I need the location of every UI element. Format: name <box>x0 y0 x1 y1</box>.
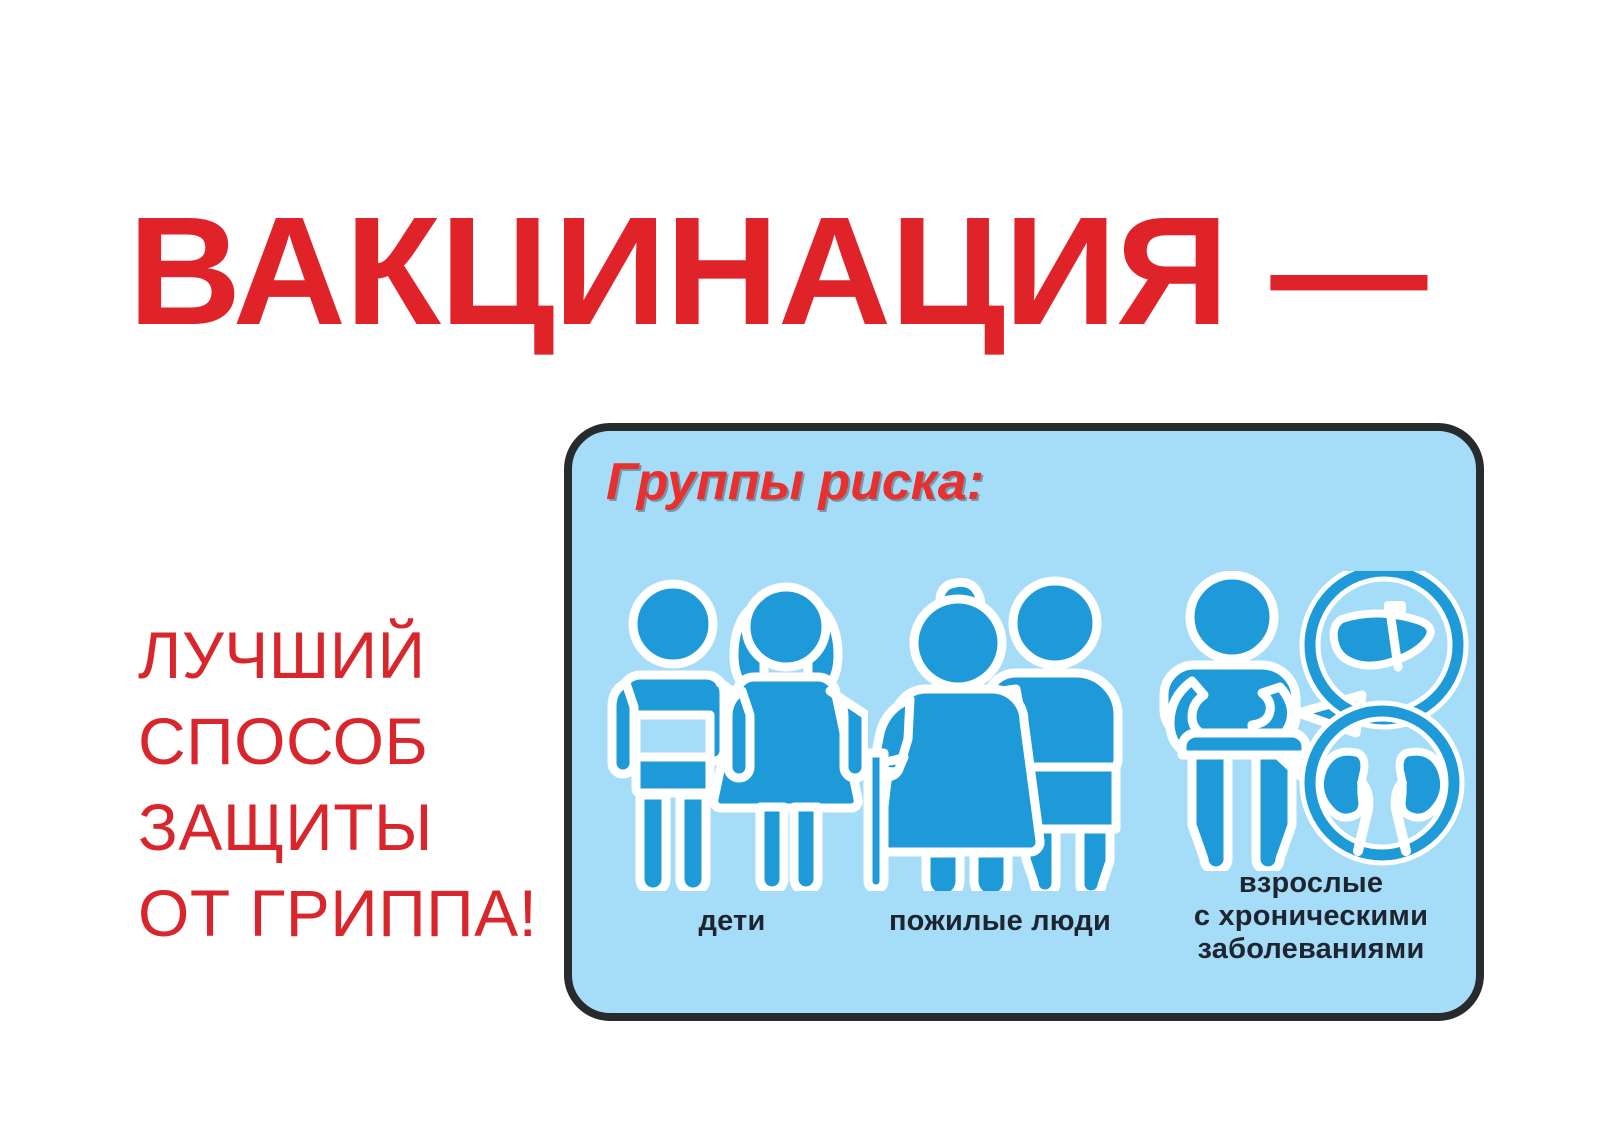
risk-group-chronic-label-line-1: взрослые <box>1239 867 1383 899</box>
poster: ВАКЦИНАЦИЯ — ЛУЧШИЙ СПОСОБ ЗАЩИТЫ ОТ ГРИ… <box>0 0 1600 1131</box>
page-title: ВАКЦИНАЦИЯ — <box>128 196 1352 346</box>
risk-groups-title: Группы риска: <box>606 453 984 511</box>
risk-group-children: дети <box>596 571 868 1011</box>
risk-groups-card: Группы риска: <box>564 423 1484 1021</box>
adult-chronic-illness-icon <box>1152 571 1470 871</box>
risk-group-chronic: взрослые с хроническими заболеваниями <box>1152 571 1470 1011</box>
risk-group-children-label-line-1: дети <box>699 905 766 937</box>
subheadline-line-2: СПОСОБ <box>138 698 558 784</box>
subheadline-line-4: ОТ ГРИППА! <box>138 870 558 956</box>
risk-group-children-label: дети <box>596 905 868 938</box>
risk-group-chronic-label-line-2: с хроническими <box>1194 900 1428 932</box>
risk-group-chronic-label-line-3: заболеваниями <box>1198 933 1425 965</box>
subheadline-line-1: ЛУЧШИЙ <box>138 612 558 698</box>
kidneys-icon <box>1310 711 1454 855</box>
subheadline: ЛУЧШИЙ СПОСОБ ЗАЩИТЫ ОТ ГРИППА! <box>138 612 558 956</box>
risk-group-elderly: пожилые люди <box>840 571 1160 1011</box>
risk-group-elderly-label: пожилые люди <box>840 905 1160 938</box>
elderly-couple-icon <box>840 571 1160 891</box>
risk-group-elderly-label-line-1: пожилые люди <box>889 905 1111 937</box>
subheadline-line-3: ЗАЩИТЫ <box>138 784 558 870</box>
risk-group-chronic-label: взрослые с хроническими заболеваниями <box>1152 867 1470 966</box>
liver-icon <box>1310 571 1458 719</box>
children-icon <box>596 571 868 891</box>
